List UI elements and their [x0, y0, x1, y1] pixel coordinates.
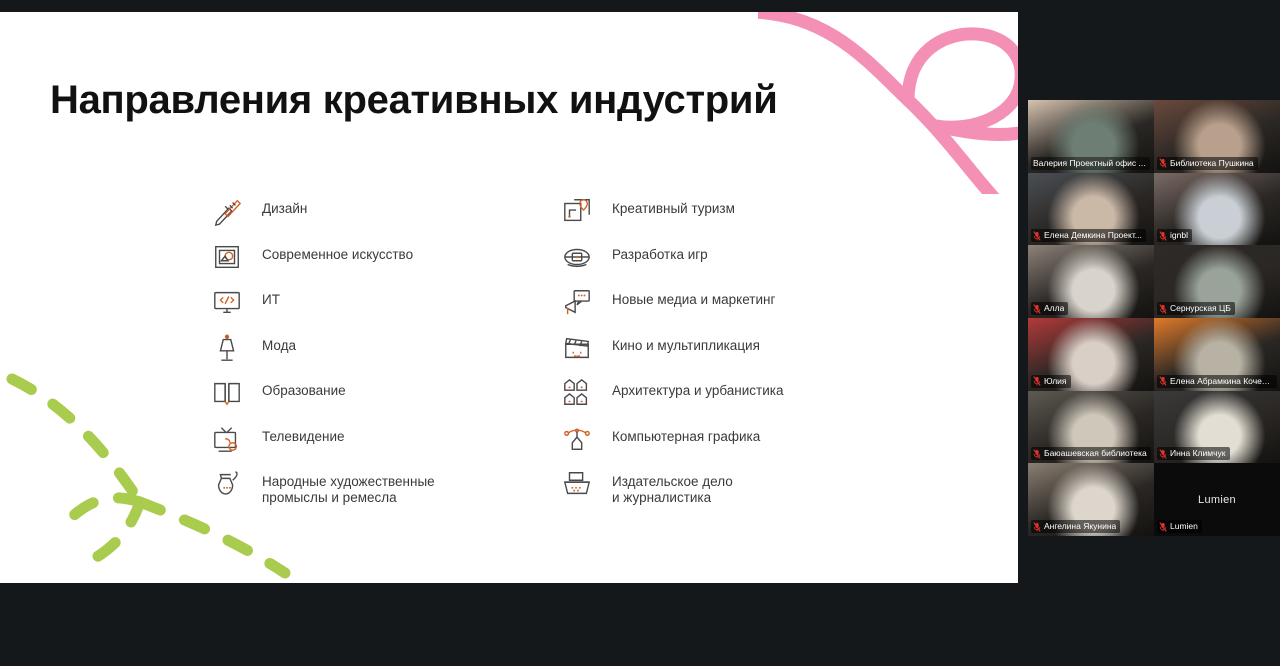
megaphone-screen-icon	[560, 285, 594, 319]
industry-item: Дизайн	[210, 194, 510, 240]
buildings-icon	[560, 376, 594, 410]
industry-item-label: Современное искусство	[262, 240, 413, 263]
industry-item: Телевидение	[210, 422, 510, 468]
participant-name-text: Сернурская ЦБ	[1170, 303, 1231, 314]
industry-item-label: ИТ	[262, 285, 280, 308]
mic-muted-icon	[1159, 376, 1167, 386]
industry-item-label: Креативный туризм	[612, 194, 735, 217]
participant-name-text: Инна Климчук	[1170, 448, 1226, 459]
industry-item: Разработка игр	[560, 240, 900, 286]
mic-muted-icon	[1159, 522, 1167, 532]
participant-name-text: Валерия Проектный офис ...	[1033, 158, 1146, 169]
clapperboard-icon	[560, 331, 594, 365]
participant-placeholder-name: Lumien	[1154, 494, 1280, 506]
participant-name-text: Елена Демкина Проект...	[1044, 230, 1142, 241]
participant-tile[interactable]: Алла	[1028, 245, 1154, 318]
monitor-code-icon	[210, 285, 244, 319]
participant-tile[interactable]: Валерия Проектный офис ...	[1028, 100, 1154, 173]
industry-item-label: Издательское дело и журналистика	[612, 467, 733, 506]
participant-name-text: Баюашевская библиотека	[1044, 448, 1147, 459]
mic-muted-icon	[1033, 231, 1041, 241]
industry-item-label: Телевидение	[262, 422, 345, 445]
mic-muted-icon	[1159, 158, 1167, 168]
participant-name-badge: Алла	[1031, 302, 1068, 315]
page-title: Направления креативных индустрий	[50, 78, 778, 123]
participant-tile[interactable]: Елена Демкина Проект...	[1028, 173, 1154, 246]
participant-name-badge: Баюашевская библиотека	[1031, 447, 1151, 460]
participant-tile[interactable]: Библиотека Пушкина	[1154, 100, 1280, 173]
television-icon	[210, 422, 244, 456]
mic-muted-icon	[1159, 304, 1167, 314]
participant-name-text: ignbl	[1170, 230, 1188, 241]
participant-tile[interactable]: Баюашевская библиотека	[1028, 391, 1154, 464]
industry-item: Компьютерная графика	[560, 422, 900, 468]
industry-item-label: Компьютерная графика	[612, 422, 760, 445]
open-book-icon	[210, 376, 244, 410]
framed-art-icon	[210, 240, 244, 274]
left-items-column: Дизайн Современное искусство ИТ Мода Обр…	[210, 194, 510, 513]
industry-item: Издательское дело и журналистика	[560, 467, 900, 513]
dress-form-icon	[210, 331, 244, 365]
participant-video-grid: Валерия Проектный офис ... Библиотека Пу…	[1028, 100, 1280, 536]
participant-name-badge: Валерия Проектный офис ...	[1031, 157, 1150, 170]
industry-item-label: Дизайн	[262, 194, 307, 217]
participant-name-badge: Ангелина Якунина	[1031, 520, 1120, 533]
industry-item-label: Мода	[262, 331, 296, 354]
industry-item: Народные художественные промыслы и ремес…	[210, 467, 510, 513]
participant-name-badge: Lumien	[1157, 520, 1202, 533]
industry-item: Креативный туризм	[560, 194, 900, 240]
participant-name-badge: Елена Демкина Проект...	[1031, 229, 1146, 242]
map-pin-cards-icon	[560, 194, 594, 228]
participant-name-text: Елена Абрамкина Кочелае...	[1170, 376, 1273, 387]
participant-name-badge: Инна Климчук	[1157, 447, 1230, 460]
participant-name-badge: Библиотека Пушкина	[1157, 157, 1258, 170]
pen-tool-icon	[560, 422, 594, 456]
industry-item-label: Кино и мультипликация	[612, 331, 760, 354]
participant-tile[interactable]: Сернурская ЦБ	[1154, 245, 1280, 318]
right-items-column: Креативный туризм Разработка игр Новые м…	[560, 194, 900, 513]
industry-item: Образование	[210, 376, 510, 422]
participant-tile[interactable]: Елена Абрамкина Кочелае...	[1154, 318, 1280, 391]
presentation-slide: Направления креативных индустрий Дизайн …	[0, 12, 1018, 583]
participant-tile[interactable]: ignbl	[1154, 173, 1280, 246]
pottery-jug-icon	[210, 467, 244, 501]
industry-item: Новые медиа и маркетинг	[560, 285, 900, 331]
industry-item-label: Образование	[262, 376, 346, 399]
participant-name-badge: Юлия	[1031, 375, 1071, 388]
participant-tile[interactable]: Ангелина Якунина	[1028, 463, 1154, 536]
pencil-ruler-icon	[210, 194, 244, 228]
mic-muted-icon	[1159, 449, 1167, 459]
participant-name-text: Ангелина Якунина	[1044, 521, 1116, 532]
industry-item: Кино и мультипликация	[560, 331, 900, 377]
vr-headset-icon	[560, 240, 594, 274]
industry-item-label: Народные художественные промыслы и ремес…	[262, 467, 435, 506]
industry-item-label: Архитектура и урбанистика	[612, 376, 783, 399]
participant-tile[interactable]: Lumien Lumien	[1154, 463, 1280, 536]
participant-name-text: Библиотека Пушкина	[1170, 158, 1254, 169]
participant-name-badge: Елена Абрамкина Кочелае...	[1157, 375, 1277, 388]
participant-name-text: Алла	[1044, 303, 1064, 314]
industry-item: ИТ	[210, 285, 510, 331]
participant-tile[interactable]: Юлия	[1028, 318, 1154, 391]
mic-muted-icon	[1033, 522, 1041, 532]
participant-name-badge: ignbl	[1157, 229, 1192, 242]
industry-item-label: Разработка игр	[612, 240, 708, 263]
participant-name-badge: Сернурская ЦБ	[1157, 302, 1235, 315]
meeting-screen: Направления креативных индустрий Дизайн …	[0, 0, 1280, 666]
industry-item: Современное искусство	[210, 240, 510, 286]
industry-item: Архитектура и урбанистика	[560, 376, 900, 422]
mic-muted-icon	[1033, 449, 1041, 459]
mic-muted-icon	[1033, 376, 1041, 386]
industry-item-label: Новые медиа и маркетинг	[612, 285, 775, 308]
participant-name-text: Юлия	[1044, 376, 1067, 387]
mic-muted-icon	[1033, 304, 1041, 314]
mic-muted-icon	[1159, 231, 1167, 241]
participant-tile[interactable]: Инна Климчук	[1154, 391, 1280, 464]
participant-name-text: Lumien	[1170, 521, 1198, 532]
printing-press-icon	[560, 467, 594, 501]
industry-item: Мода	[210, 331, 510, 377]
pink-ribbon-decoration	[758, 12, 1018, 194]
